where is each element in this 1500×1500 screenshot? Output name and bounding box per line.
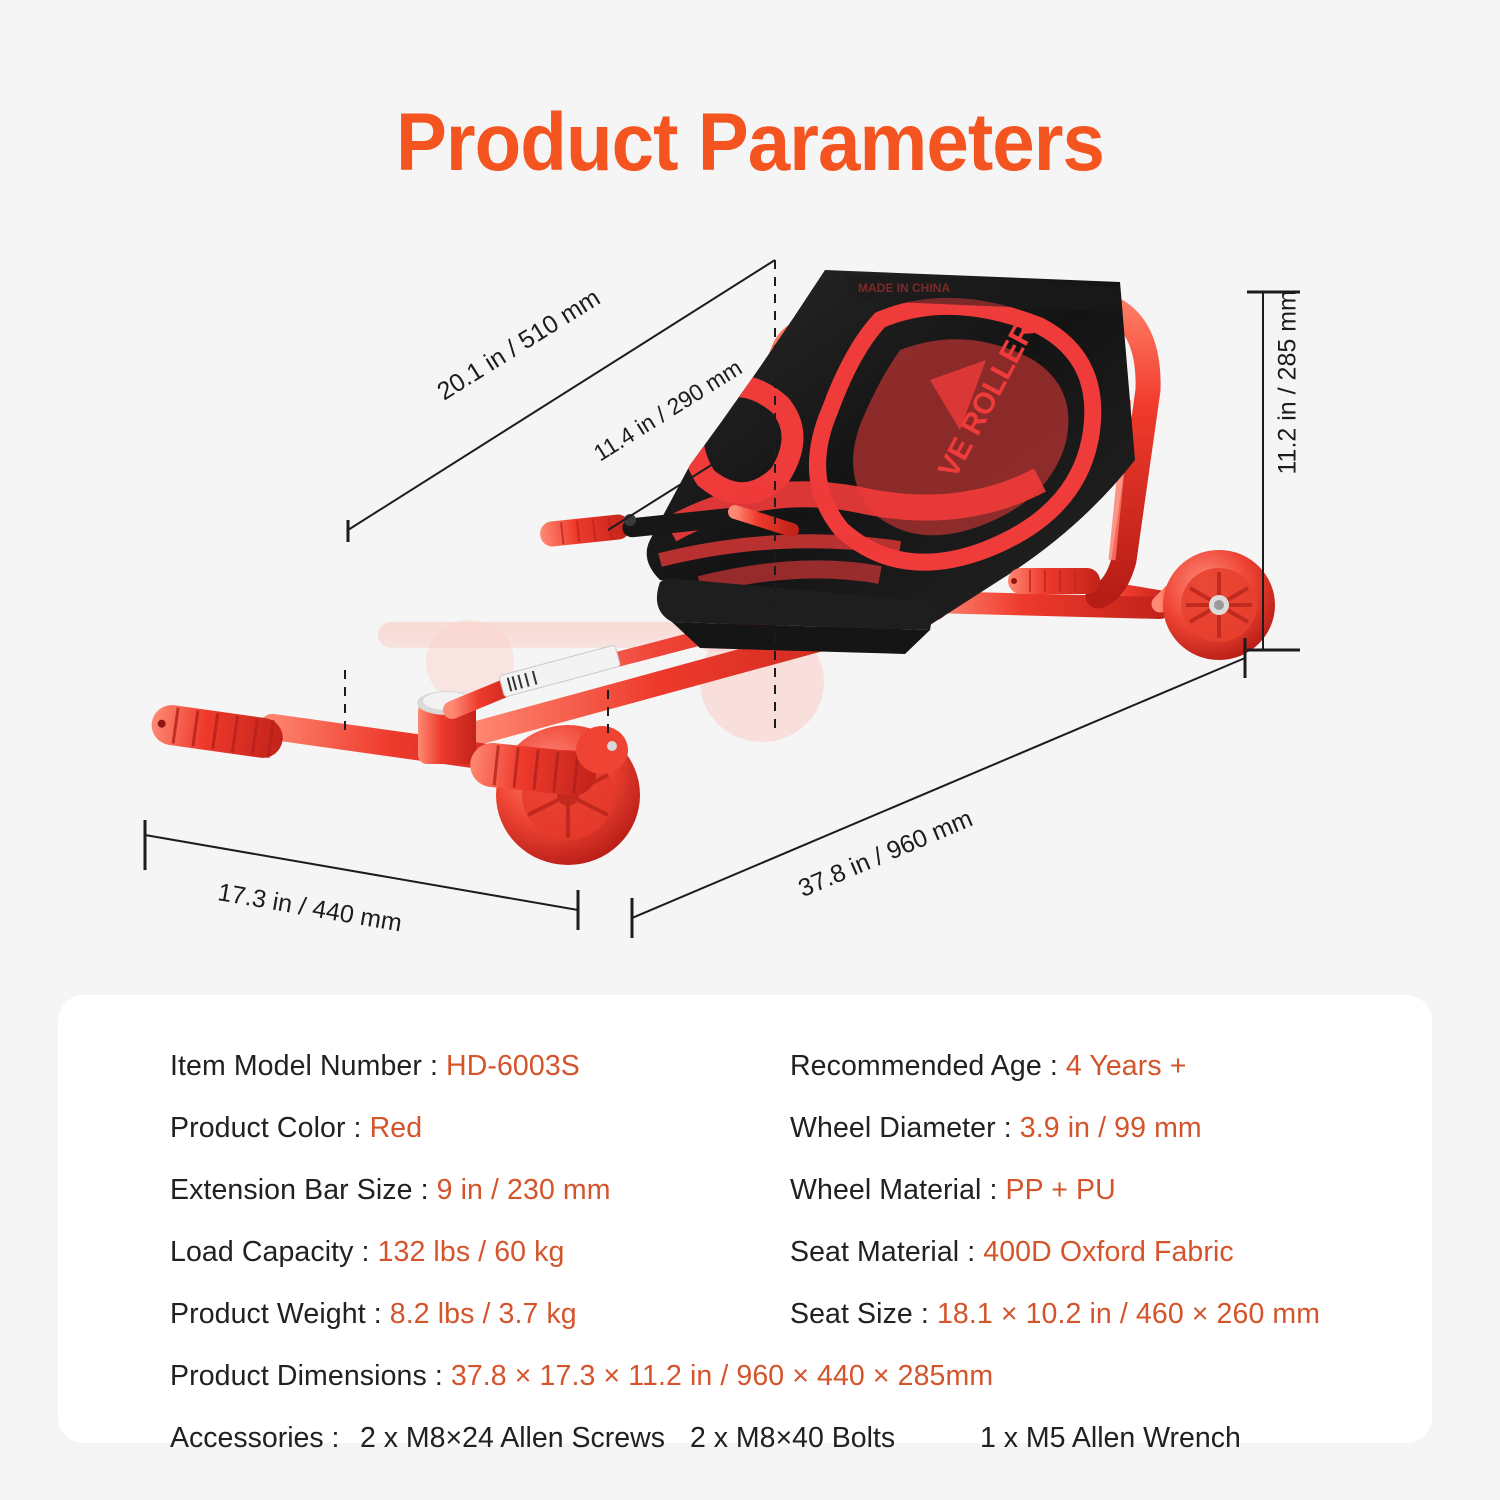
spec-label: Product Dimensions :: [170, 1360, 451, 1392]
spec-product-weight: Product Weight : 8.2 lbs / 3.7 kg: [170, 1298, 790, 1331]
product-diagram: VE ROLLER MADE IN CHINA: [0, 230, 1500, 970]
table-row: Load Capacity : 132 lbs / 60 kg Seat Mat…: [170, 1221, 1370, 1283]
spec-product-color: Product Color : Red: [170, 1112, 790, 1145]
dimension-label-height: 11.2 in / 285 mm: [1274, 290, 1303, 474]
specifications-card: Item Model Number : HD-6003S Recommended…: [58, 995, 1432, 1443]
spec-accessories: Accessories : 2 x M8×24 Allen Screws 2 x…: [170, 1422, 1241, 1455]
table-row: Extension Bar Size : 9 in / 230 mm Wheel…: [170, 1159, 1370, 1221]
spec-value: PP + PU: [1006, 1174, 1116, 1206]
accessory-item: 1 x M5 Allen Wrench: [980, 1422, 1241, 1455]
front-wheel: [468, 725, 640, 865]
page-title: Product Parameters: [53, 96, 1448, 190]
table-row: Product Color : Red Wheel Diameter : 3.9…: [170, 1097, 1370, 1159]
spec-load-capacity: Load Capacity : 132 lbs / 60 kg: [170, 1236, 790, 1269]
front-assembly: [149, 645, 640, 865]
spec-label: Wheel Diameter :: [790, 1112, 1020, 1144]
accessory-item: 2 x M8×40 Bolts: [690, 1422, 980, 1455]
spec-value: 4 Years +: [1066, 1050, 1187, 1082]
product-parameters-page: Product Parameters: [0, 0, 1500, 1500]
spec-value: 3.9 in / 99 mm: [1020, 1112, 1202, 1144]
spec-wheel-diameter: Wheel Diameter : 3.9 in / 99 mm: [790, 1112, 1202, 1145]
spec-value: 18.1 × 10.2 in / 460 × 260 mm: [937, 1298, 1320, 1330]
spec-label: Seat Material :: [790, 1236, 983, 1268]
spec-label: Extension Bar Size :: [170, 1174, 437, 1206]
table-row-accessories: Accessories : 2 x M8×24 Allen Screws 2 x…: [170, 1407, 1370, 1469]
spec-value: 132 lbs / 60 kg: [378, 1236, 565, 1268]
spec-label: Item Model Number :: [170, 1050, 446, 1082]
table-row: Product Weight : 8.2 lbs / 3.7 kg Seat S…: [170, 1283, 1370, 1345]
spec-label: Wheel Material :: [790, 1174, 1006, 1206]
footpeg-right: [1008, 568, 1100, 594]
spec-seat-material: Seat Material : 400D Oxford Fabric: [790, 1236, 1234, 1269]
spec-label: Recommended Age :: [790, 1050, 1066, 1082]
spec-extension-bar-size: Extension Bar Size : 9 in / 230 mm: [170, 1174, 790, 1207]
specifications-list: Item Model Number : HD-6003S Recommended…: [170, 1035, 1370, 1469]
spec-value: HD-6003S: [446, 1050, 580, 1082]
spec-value: 9 in / 230 mm: [437, 1174, 611, 1206]
spec-label: Accessories :: [170, 1422, 360, 1455]
spec-recommended-age: Recommended Age : 4 Years +: [790, 1050, 1186, 1083]
spec-value: 400D Oxford Fabric: [983, 1236, 1233, 1268]
spec-product-dimensions: Product Dimensions : 37.8 × 17.3 × 11.2 …: [170, 1360, 1370, 1393]
spec-label: Product Color :: [170, 1112, 370, 1144]
spec-value: 37.8 × 17.3 × 11.2 in / 960 × 440 × 285m…: [451, 1360, 993, 1392]
spec-label: Load Capacity :: [170, 1236, 378, 1268]
spec-item-model-number: Item Model Number : HD-6003S: [170, 1050, 790, 1083]
spec-label: Seat Size :: [790, 1298, 937, 1330]
table-row: Item Model Number : HD-6003S Recommended…: [170, 1035, 1370, 1097]
spec-label: Product Weight :: [170, 1298, 390, 1330]
spec-value: 8.2 lbs / 3.7 kg: [390, 1298, 577, 1330]
table-row: Product Dimensions : 37.8 × 17.3 × 11.2 …: [170, 1345, 1370, 1407]
spec-value: Red: [370, 1112, 423, 1144]
spec-wheel-material: Wheel Material : PP + PU: [790, 1174, 1116, 1207]
spec-seat-size: Seat Size : 18.1 × 10.2 in / 460 × 260 m…: [790, 1298, 1320, 1331]
rear-wheel: [1163, 550, 1275, 660]
accessory-item: 2 x M8×24 Allen Screws: [360, 1422, 690, 1455]
